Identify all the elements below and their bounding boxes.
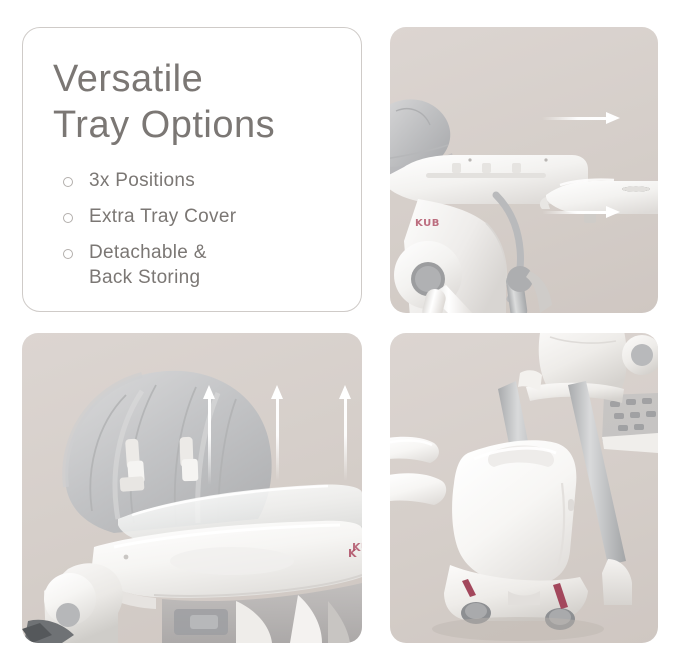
- photo-panel-detachable-tray: KUB: [390, 27, 658, 313]
- bullet-circle-icon: [63, 177, 73, 187]
- brand-logo: KUB: [415, 218, 440, 229]
- list-item: Extra Tray Cover: [45, 204, 345, 229]
- feature-text-card: Versatile Tray Options 3x Positions Extr…: [22, 27, 362, 312]
- feature-bullet-list: 3x Positions Extra Tray Cover Detachable…: [45, 168, 345, 301]
- bullet-circle-icon: [63, 213, 73, 223]
- photo-panel-back-storing: [390, 333, 658, 643]
- arrow-up-middle-icon: [274, 385, 281, 481]
- product-feature-graphic: Versatile Tray Options 3x Positions Extr…: [0, 0, 679, 669]
- page-title: Versatile Tray Options: [53, 56, 275, 148]
- arrow-right-bottom-icon: [542, 209, 620, 216]
- high-chair-seat-and-tray-illustration: K: [22, 333, 362, 643]
- brand-logo: KUB: [352, 541, 362, 554]
- list-item: 3x Positions: [45, 168, 345, 193]
- list-item-label: Extra Tray Cover: [89, 204, 236, 229]
- list-item: Detachable & Back Storing: [45, 240, 345, 290]
- high-chair-detach-illustration: [390, 27, 658, 313]
- arrow-right-top-icon: [542, 115, 620, 122]
- list-item-label: Detachable & Back Storing: [89, 240, 207, 290]
- folded-chair-with-stored-tray-illustration: [390, 333, 658, 643]
- photo-panel-tray-cover: K KUB: [22, 333, 362, 643]
- bullet-circle-icon: [63, 249, 73, 259]
- arrow-up-right-icon: [342, 385, 349, 481]
- list-item-label: 3x Positions: [89, 168, 195, 193]
- arrow-up-left-icon: [206, 385, 213, 485]
